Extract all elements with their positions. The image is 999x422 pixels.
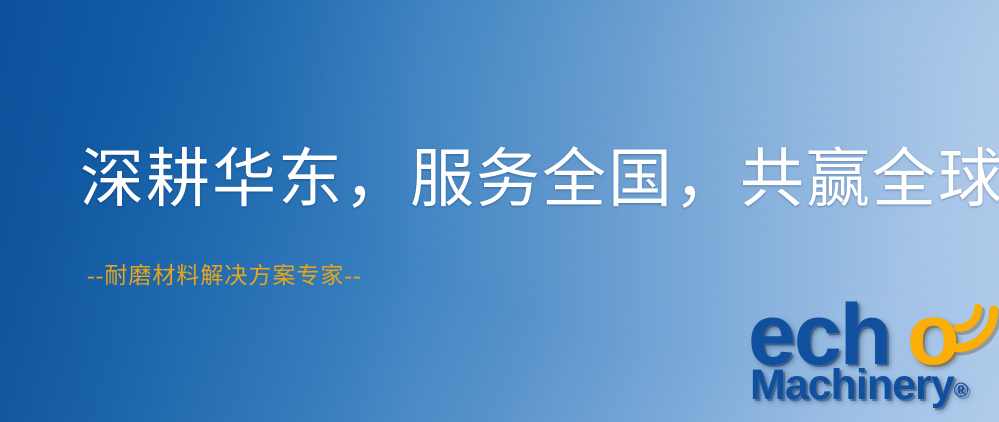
banner-headline: 深耕华东，服务全国，共赢全球 bbox=[80, 148, 999, 212]
echo-machinery-logo[interactable]: ech o Machinery® bbox=[748, 296, 999, 422]
registered-trademark-icon: ® bbox=[954, 380, 969, 402]
logo-wordmark: ech o Machinery® bbox=[748, 296, 999, 422]
signal-waves-icon bbox=[944, 292, 999, 356]
banner-subtitle: --耐磨材料解决方案专家-- bbox=[87, 264, 362, 287]
logo-text-machinery: Machinery bbox=[750, 361, 954, 409]
promotional-banner: 深耕华东，服务全国，共赢全球 --耐磨材料解决方案专家-- ech o Mach… bbox=[0, 0, 999, 422]
logo-subtext: Machinery® bbox=[750, 364, 968, 407]
